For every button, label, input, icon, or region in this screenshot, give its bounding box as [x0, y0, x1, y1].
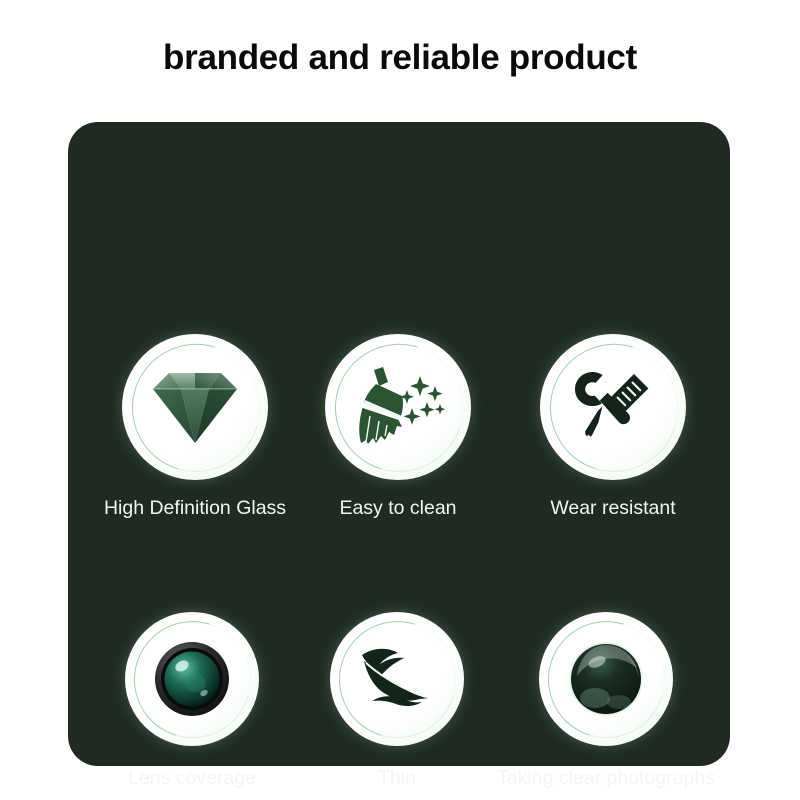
feature-label: Thin [300, 766, 494, 790]
page-title: branded and reliable product [0, 36, 800, 80]
feature-icon-circle [125, 612, 259, 746]
product-feature-poster: branded and reliable product [0, 0, 800, 800]
feature-icon-circle [330, 612, 464, 746]
feature-icon-circle [122, 334, 268, 480]
feature-icon-circle [325, 334, 471, 480]
feature-easy-to-clean[interactable]: Easy to clean [300, 334, 496, 520]
feature-taking-clear-photographs[interactable]: Taking clear photographs [482, 612, 730, 790]
feature-thin[interactable]: Thin [300, 612, 494, 790]
feature-icon-circle [540, 334, 686, 480]
feature-label: Lens coverage [90, 766, 294, 790]
feature-label: Wear resistant [496, 496, 730, 520]
feature-label: Taking clear photographs [482, 766, 730, 790]
feature-label: Easy to clean [300, 496, 496, 520]
feature-panel: High Definition Glass [68, 122, 730, 766]
wrench-screwdriver-icon [572, 368, 654, 446]
camera-lens-icon [154, 641, 230, 717]
feather-icon [354, 643, 440, 715]
feature-label: High Definition Glass [92, 496, 298, 520]
water-droplet-sphere-icon [567, 640, 645, 718]
feature-wear-resistant[interactable]: Wear resistant [496, 334, 730, 520]
feature-icon-circle [539, 612, 673, 746]
diamond-icon [149, 367, 241, 447]
feature-high-definition-glass[interactable]: High Definition Glass [92, 334, 298, 520]
broom-sparkle-icon [350, 364, 446, 450]
feature-lens-coverage[interactable]: Lens coverage [90, 612, 294, 790]
